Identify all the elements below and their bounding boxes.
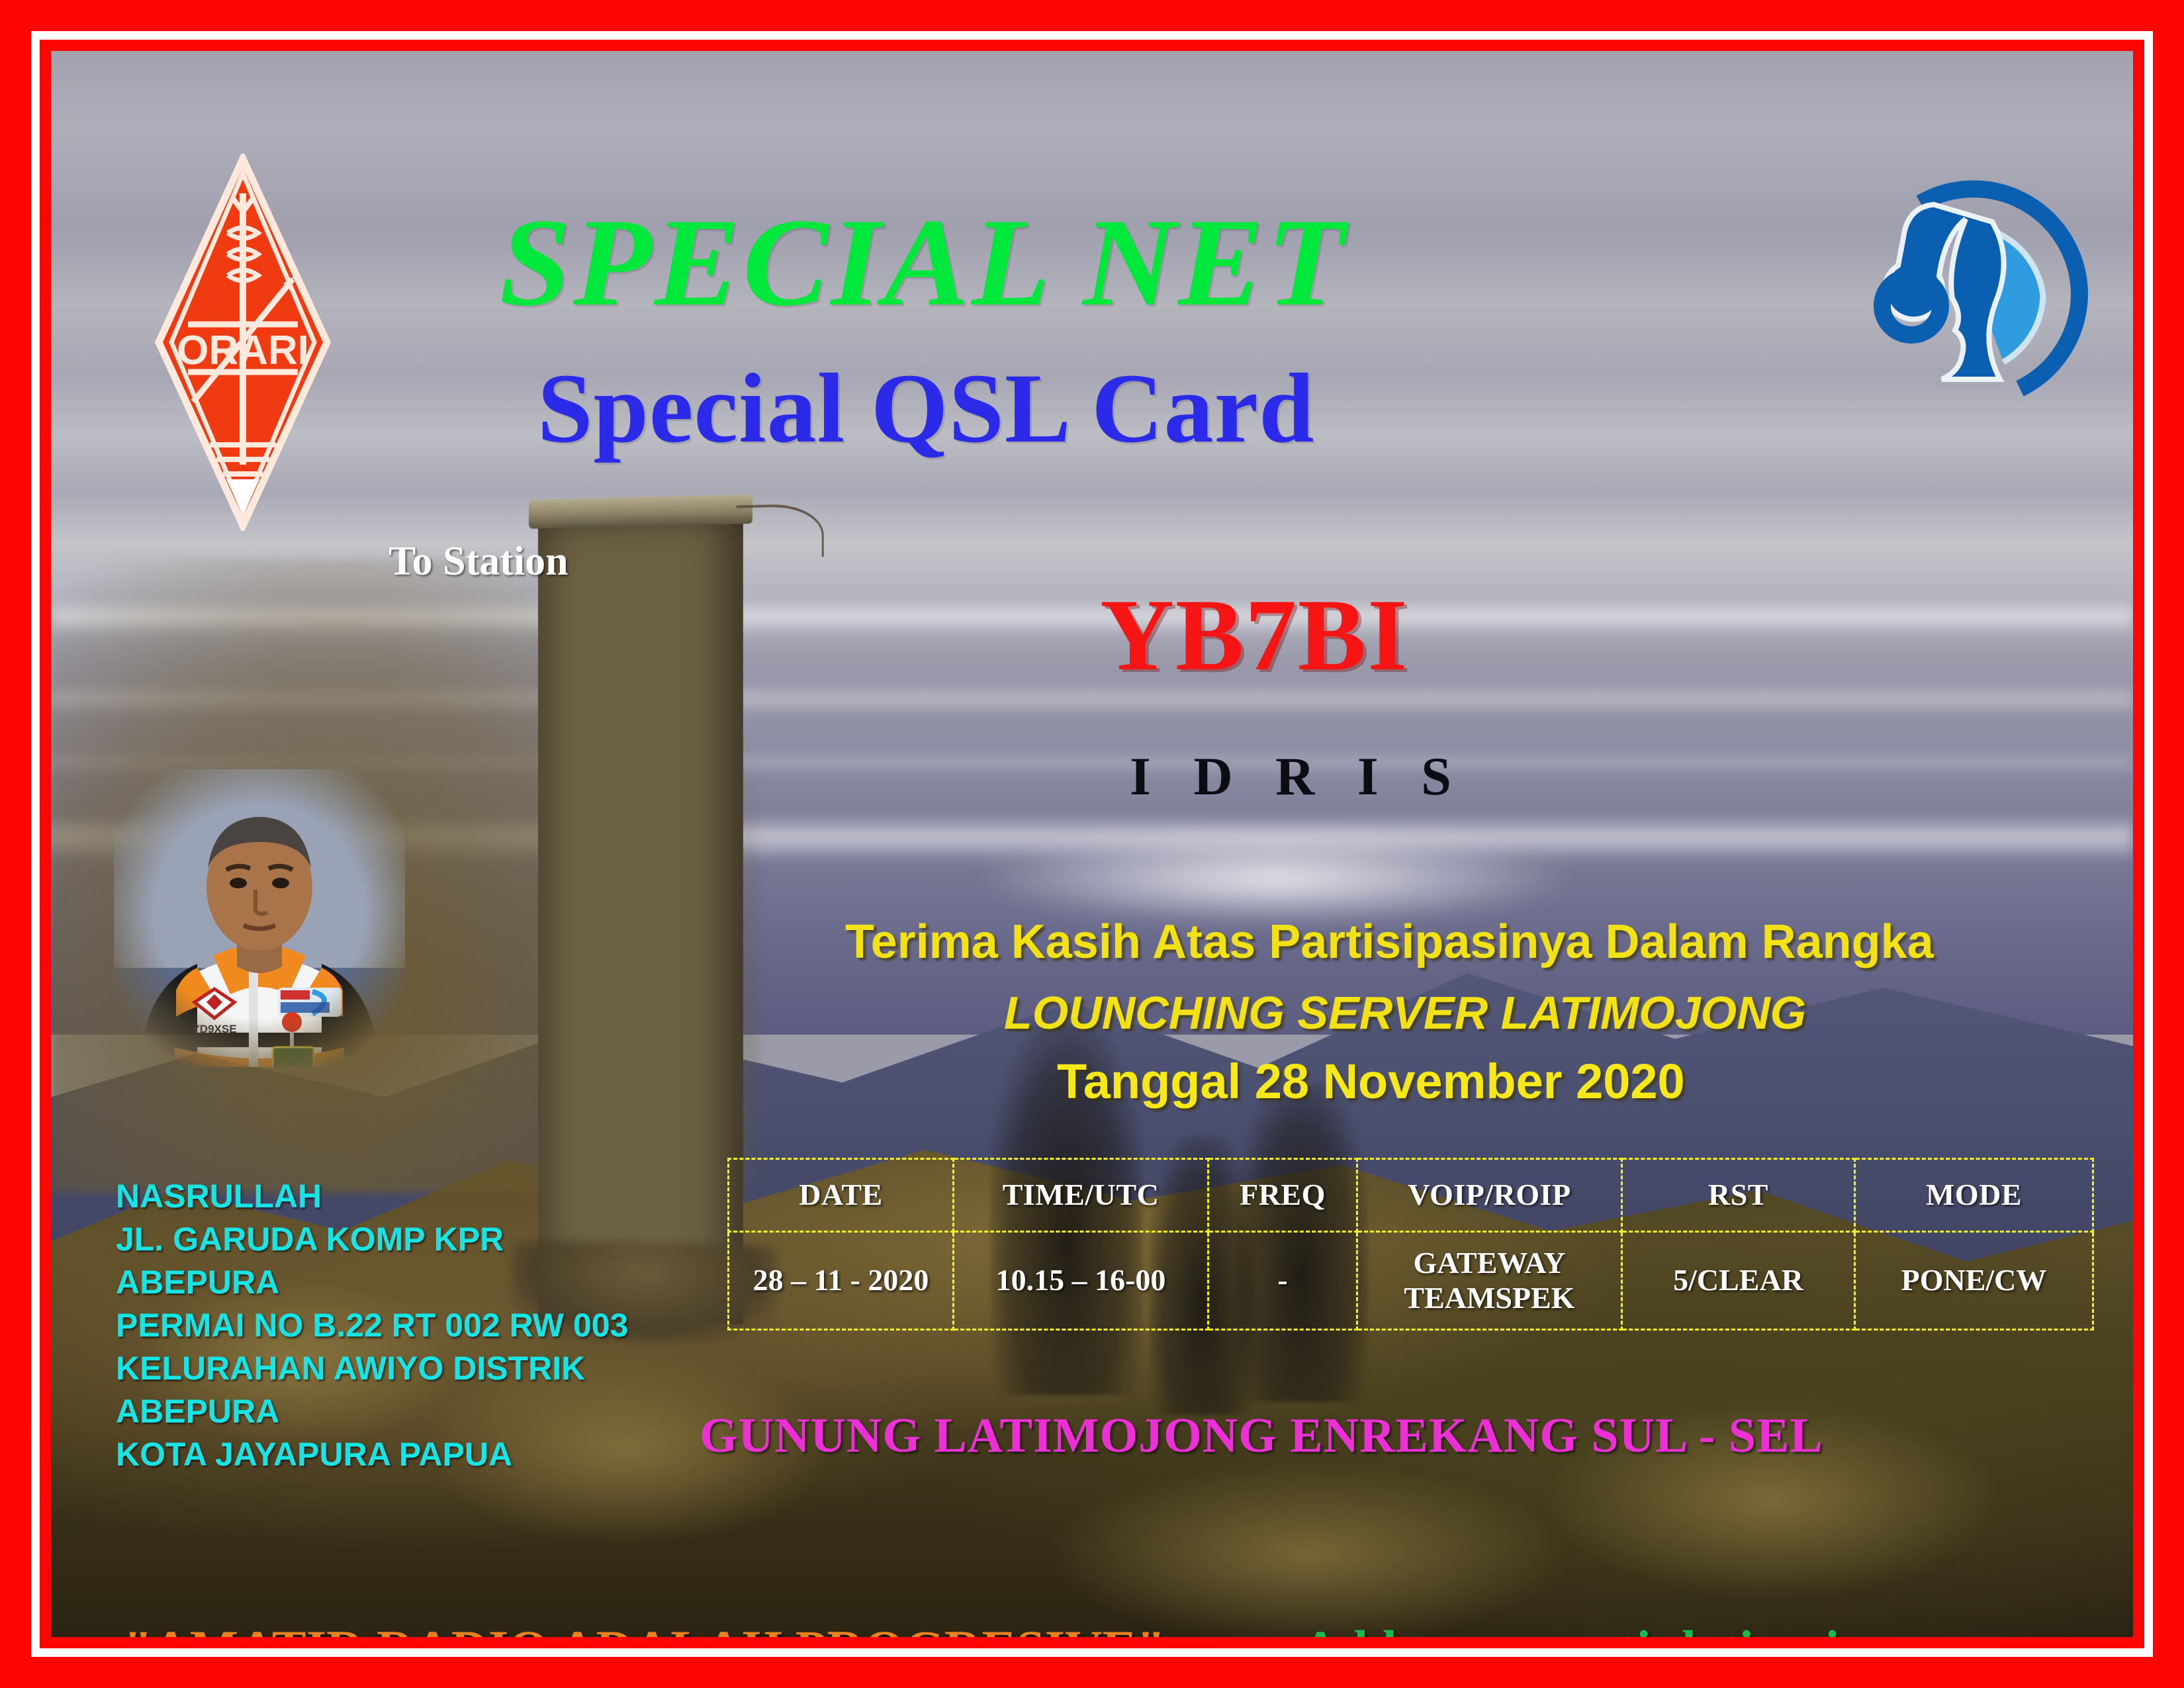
- motto-text: "AMATIR RADIO ADALAH PROGRESIVE": [124, 1623, 1165, 1637]
- grass-tuft: [1044, 1461, 1573, 1637]
- address-line: ABEPURA: [116, 1390, 628, 1433]
- to-station-label: To Station: [388, 541, 569, 582]
- uniform-callsign-patch: YD9XSE: [192, 1023, 236, 1035]
- thanks-line-1: Terima Kasih Atas Partisipasinya Dalam R…: [845, 918, 1934, 966]
- orari-logo: ORARI: [154, 154, 332, 531]
- ncs-operator-portrait: YD9XSE: [114, 769, 405, 1067]
- cell-rst: 5/CLEAR: [1622, 1232, 1855, 1330]
- qsl-card-background-photo: ORARI NCS: [51, 51, 2133, 1637]
- station-callsign: YB7BI: [1100, 584, 1409, 686]
- cell-mode: PONE/CW: [1855, 1232, 2093, 1330]
- operator-name: I D R I S: [1130, 749, 1466, 804]
- address-line: NASRULLAH: [116, 1175, 628, 1218]
- page-subtitle: Special QSL Card: [537, 359, 1315, 458]
- column-header-rst: RST: [1622, 1159, 1855, 1232]
- qsl-card-inner-frame: ORARI NCS: [40, 40, 2144, 1648]
- web-address[interactable]: Address : amatir.latimojong.com: [1302, 1623, 2025, 1637]
- column-header-mode: MODE: [1855, 1159, 2093, 1232]
- column-header-freq: FREQ: [1208, 1159, 1357, 1232]
- page-title: SPECIAL NET: [499, 200, 1347, 326]
- cloud-patch: [978, 832, 1573, 925]
- thanks-line-3: Tanggal 28 November 2020: [1057, 1057, 1685, 1106]
- location-caption: GUNUNG LATIMOJONG ENREKANG SUL - SEL: [700, 1411, 1823, 1460]
- cell-date: 28 – 11 - 2020: [729, 1232, 954, 1330]
- qsl-card-white-gap: ORARI NCS: [31, 31, 2153, 1657]
- table-header-row: DATE TIME/UTC FREQ VOIP/ROIP RST MODE: [729, 1159, 2093, 1232]
- column-header-date: DATE: [729, 1159, 954, 1232]
- column-header-voip: VOIP/ROIP: [1357, 1159, 1622, 1232]
- address-line: PERMAI NO B.22 RT 002 RW 003: [116, 1304, 628, 1347]
- address-line: KELURAHAN AWIYO DISTRIK: [116, 1347, 628, 1390]
- address-line: ABEPURA: [116, 1261, 628, 1304]
- pillar-cap: [529, 494, 752, 529]
- address-line: JL. GARUDA KOMP KPR: [116, 1218, 628, 1261]
- qsl-card-outer-frame: ORARI NCS: [0, 0, 2184, 1688]
- qso-log-table: DATE TIME/UTC FREQ VOIP/ROIP RST MODE 28…: [727, 1158, 2094, 1331]
- thanks-line-2: LOUNCHING SERVER LATIMOJONG: [1004, 990, 1806, 1036]
- recipient-address-block: NASRULLAH JL. GARUDA KOMP KPR ABEPURA PE…: [116, 1175, 628, 1476]
- cell-time: 10.15 – 16-00: [954, 1232, 1208, 1330]
- column-header-time: TIME/UTC: [954, 1159, 1208, 1232]
- address-line: KOTA JAYAPURA PAPUA: [116, 1433, 628, 1476]
- orari-logo-text: ORARI: [177, 328, 309, 373]
- table-row: 28 – 11 - 2020 10.15 – 16-00 - GATEWAY T…: [729, 1232, 2093, 1330]
- cell-freq: -: [1208, 1232, 1357, 1330]
- radio-headset-logo: [1854, 164, 2093, 402]
- cell-voip: GATEWAY TEAMSPEK: [1357, 1232, 1622, 1330]
